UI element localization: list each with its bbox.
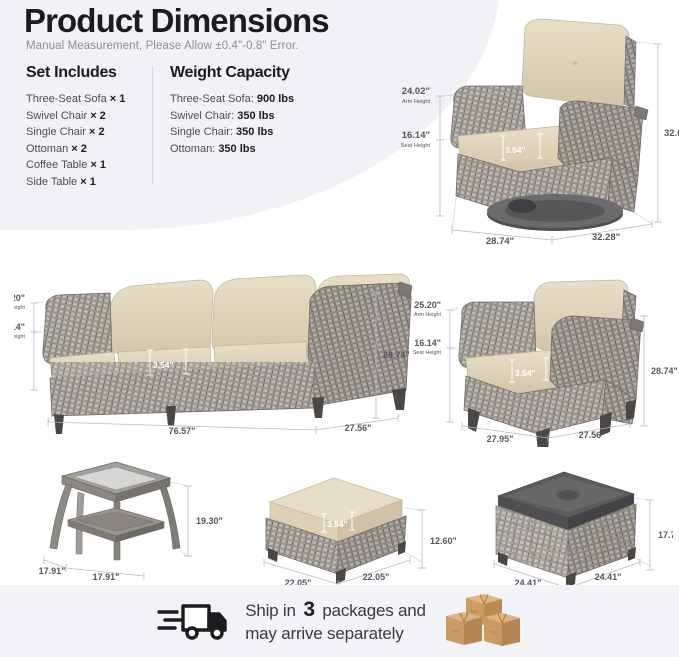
- ship-line2: may arrive separately: [245, 624, 403, 643]
- swivel-chair-figure: 24.02" Arm Height 16.14" Seat Height 32.…: [400, 8, 679, 248]
- set-item-qty: × 2: [90, 110, 106, 122]
- swivel-overall-height-value: 32.68": [664, 128, 679, 139]
- shipping-content: Ship in 3 packages and may arrive separa…: [0, 585, 679, 657]
- set-includes-item: Swivel Chair × 2: [26, 108, 166, 125]
- ottoman-figure: 12.60" 22.05" 22.05" 3.54": [236, 462, 456, 587]
- coffee-table-depth-value: 24.41": [595, 572, 622, 582]
- set-includes-heading: Set Includes: [26, 64, 166, 82]
- set-item-qty: × 1: [90, 159, 106, 171]
- weight-item-value: 350 lbs: [236, 126, 273, 138]
- single-chair-overall-height-value: 28.74": [651, 366, 678, 376]
- shipping-text: Ship in 3 packages and may arrive separa…: [245, 598, 426, 645]
- weight-capacity-heading: Weight Capacity: [170, 64, 370, 82]
- weight-item-name: Swivel Chair:: [170, 110, 234, 122]
- set-item-name: Single Chair: [26, 126, 86, 138]
- side-table-height-value: 19.30": [196, 516, 223, 526]
- set-item-qty: × 2: [89, 126, 105, 138]
- swivel-arm-height-value: 24.02": [402, 86, 430, 97]
- ship-suffix: packages and: [322, 601, 425, 620]
- weight-capacity-item: Single Chair: 350 lbs: [170, 124, 370, 141]
- set-includes-item: Three-Seat Sofa × 1: [26, 91, 166, 108]
- side-table-depth-value: 17.91": [39, 566, 66, 576]
- weight-capacity-column: Weight Capacity Three-Seat Sofa: 900 lbs…: [170, 64, 370, 157]
- coffee-table-figure: 17.72" 24.41" 24.41": [468, 462, 673, 587]
- swivel-cushion-value: 3.54": [505, 145, 526, 155]
- infographic-page: Product Dimensions Manual Measurement, P…: [0, 0, 679, 657]
- page-subtitle: Manual Measurement, Please Allow ±0.4"-0…: [26, 40, 299, 52]
- set-includes-item: Side Table × 1: [26, 174, 166, 191]
- swivel-seat-height-value: 16.14": [402, 130, 430, 141]
- single-chair-arm-height-label: Arm Height: [414, 312, 441, 318]
- weight-capacity-item: Ottoman: 350 lbs: [170, 141, 370, 158]
- weight-item-value: 900 lbs: [257, 93, 294, 105]
- sofa-cushion-value: 3.54": [153, 360, 174, 370]
- swivel-arm-height-label: Arm Height: [402, 99, 430, 105]
- sofa-overall-height-value: 28.74": [383, 350, 410, 360]
- ottoman-height-value: 12.60": [430, 536, 456, 546]
- weight-capacity-item: Three-Seat Sofa: 900 lbs: [170, 91, 370, 108]
- ship-prefix: Ship in: [245, 601, 296, 620]
- weight-capacity-item: Swivel Chair: 350 lbs: [170, 108, 370, 125]
- three-seat-sofa-figure: 25.20" Arm Height 16.14" Seat Height 28.…: [14, 258, 414, 443]
- single-chair-arm-height-value: 25.20": [414, 300, 441, 310]
- side-table-width-value: 17.91": [93, 572, 120, 582]
- single-chair-width-value: 27.95": [487, 434, 514, 444]
- set-item-name: Side Table: [26, 176, 77, 188]
- set-item-name: Coffee Table: [26, 159, 87, 171]
- set-item-qty: × 2: [71, 143, 87, 155]
- package-count-badge: 3: [300, 598, 317, 621]
- sofa-seat-height-label: Seat Height: [14, 334, 25, 340]
- ottoman-cushion-value: 3.54": [327, 519, 348, 529]
- sofa-arm-height-value: 25.20": [14, 293, 25, 303]
- set-item-name: Three-Seat Sofa: [26, 93, 107, 105]
- sofa-seat-height-value: 16.14": [14, 322, 25, 332]
- weight-item-name: Three-Seat Sofa:: [170, 93, 254, 105]
- cardboard-boxes-icon: [442, 590, 522, 653]
- sofa-width-value: 76.57": [169, 426, 196, 436]
- set-includes-item: Ottoman × 2: [26, 141, 166, 158]
- swivel-seat-height-label: Seat Height: [401, 143, 431, 149]
- sofa-depth-value: 27.56": [345, 423, 372, 433]
- single-chair-cushion-value: 3.54": [515, 368, 536, 378]
- single-chair-seat-height-value: 16.14": [414, 338, 441, 348]
- set-item-name: Swivel Chair: [26, 110, 87, 122]
- weight-item-value: 350 lbs: [218, 143, 255, 155]
- weight-item-name: Single Chair:: [170, 126, 233, 138]
- set-item-qty: × 1: [110, 93, 126, 105]
- single-chair-seat-height-label: Seat Height: [413, 350, 442, 356]
- coffee-table-height-value: 17.72": [658, 530, 673, 540]
- swivel-depth-value: 32.28": [592, 232, 620, 243]
- single-chair-figure: 25.20" Arm Height 16.14" Seat Height 28.…: [412, 272, 679, 447]
- weight-item-name: Ottoman:: [170, 143, 215, 155]
- delivery-truck-icon: [157, 596, 229, 647]
- set-item-name: Ottoman: [26, 143, 68, 155]
- ottoman-depth-value: 22.05": [363, 572, 390, 582]
- page-title: Product Dimensions: [24, 2, 329, 40]
- weight-item-value: 350 lbs: [237, 110, 274, 122]
- side-table-figure: 19.30" 17.91" 17.91": [24, 452, 234, 587]
- set-includes-column: Set Includes Three-Seat Sofa × 1 Swivel …: [26, 64, 166, 190]
- sofa-arm-height-label: Arm Height: [14, 305, 25, 311]
- single-chair-depth-value: 27.56": [579, 430, 606, 440]
- swivel-width-value: 28.74": [486, 236, 514, 247]
- set-includes-item: Single Chair × 2: [26, 124, 166, 141]
- set-includes-item: Coffee Table × 1: [26, 157, 166, 174]
- set-item-qty: × 1: [80, 176, 96, 188]
